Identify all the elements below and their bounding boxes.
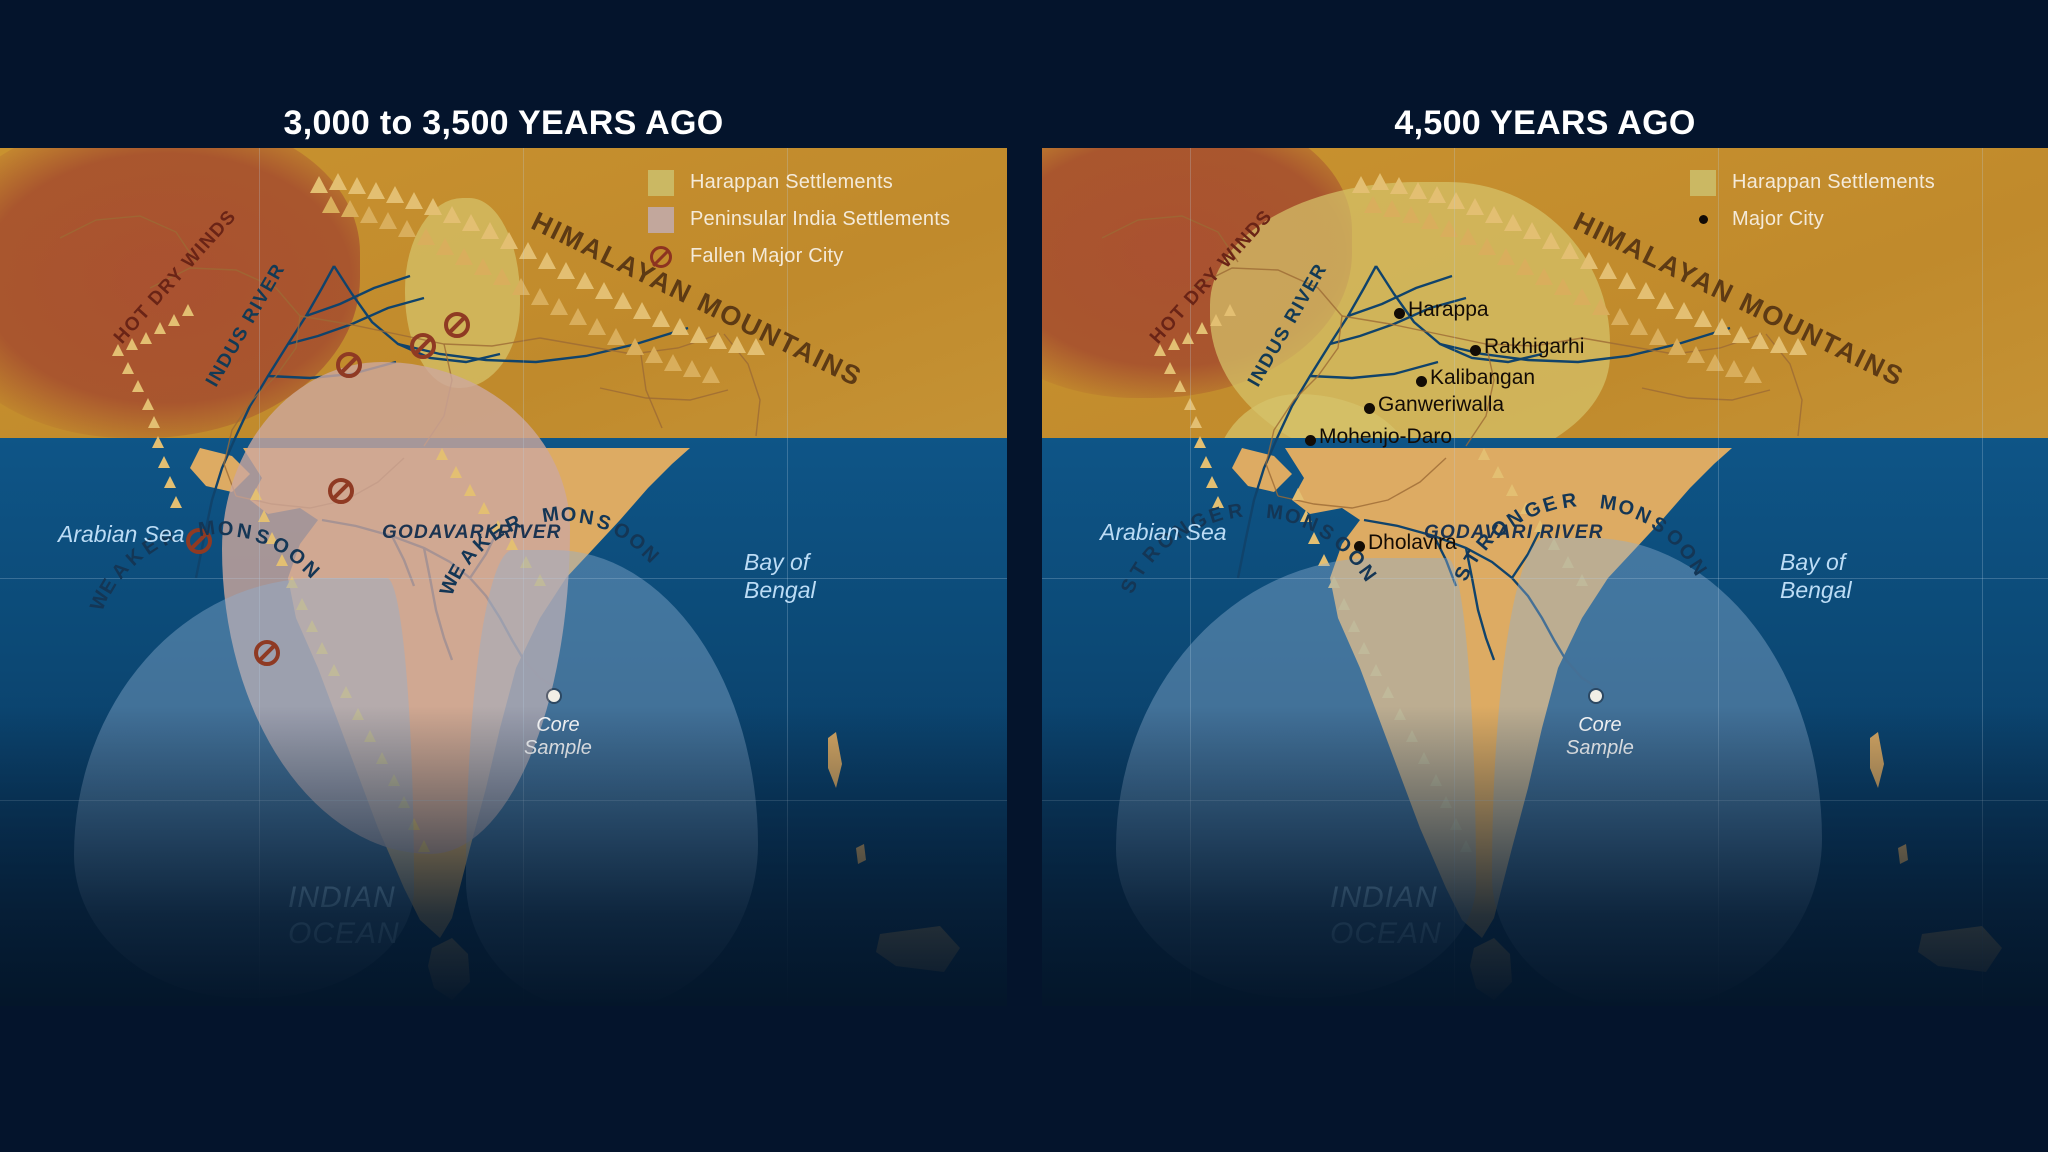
- fallen-city-marker[interactable]: [336, 352, 362, 378]
- legend-item[interactable]: Major City: [1690, 201, 1935, 238]
- legend-right: Harappan Settlements Major City: [1690, 164, 1935, 238]
- legend-item[interactable]: Peninsular India Settlements: [648, 201, 950, 238]
- eastern-ghats-ridge-left: [436, 448, 437, 449]
- hindukush-ridge-right: [1154, 344, 1155, 345]
- gridline-h1-left: [0, 578, 1007, 579]
- western-ghats-ridge-left: [250, 488, 251, 489]
- fallen-city-marker[interactable]: [328, 478, 354, 504]
- fallen-city-marker[interactable]: [410, 333, 436, 359]
- city-label-mohenjo-daro: Mohenjo-Daro: [1319, 425, 1452, 449]
- city-dot-harappa[interactable]: [1394, 308, 1405, 319]
- ocean-depth-fade-right: [1042, 706, 2048, 1006]
- panel-title-right: 4,500 YEARS AGO: [1042, 100, 2048, 146]
- bay-of-bengal-label-right: Bay of Bengal: [1780, 548, 1852, 604]
- core-sample-dot-right[interactable]: [1590, 690, 1602, 702]
- city-label-kalibangan: Kalibangan: [1430, 366, 1535, 390]
- fallen-city-marker[interactable]: [254, 640, 280, 666]
- western-ghats-ridge-right: [1292, 488, 1293, 489]
- himalaya-ridge-lower-left: [322, 196, 323, 197]
- city-label-rakhigarhi: Rakhigarhi: [1484, 335, 1584, 359]
- legend-label: Fallen Major City: [690, 245, 843, 268]
- himalaya-ridge-lower-right: [1364, 196, 1365, 197]
- arabian-sea-label-left: Arabian Sea: [58, 520, 185, 548]
- map-panel-right: HarappaRakhigarhiKalibanganGanweriwallaM…: [1042, 148, 2048, 1006]
- himalaya-ridge-right: [1352, 176, 1353, 177]
- harappan-settlements-swatch: [1690, 170, 1716, 196]
- legend-item[interactable]: Fallen Major City: [648, 238, 950, 275]
- city-dot-rakhigarhi[interactable]: [1470, 345, 1481, 356]
- infographic-stage: 3,000 to 3,500 YEARS AGO 4,500 YEARS AGO: [0, 0, 2048, 1152]
- hindukush-ridge-left: [112, 344, 113, 345]
- bay-of-bengal-label-left: Bay of Bengal: [744, 548, 816, 604]
- gridline-h1-right: [1042, 578, 2048, 579]
- legend-label: Peninsular India Settlements: [690, 208, 950, 231]
- legend-item[interactable]: Harappan Settlements: [648, 164, 950, 201]
- legend-item[interactable]: Harappan Settlements: [1690, 164, 1935, 201]
- peninsular-settlements-swatch: [648, 207, 674, 233]
- legend-left: Harappan Settlements Peninsular India Se…: [648, 164, 950, 275]
- city-dot-mohenjo-daro[interactable]: [1305, 435, 1316, 446]
- eastern-ghats-ridge-right: [1478, 448, 1479, 449]
- harappan-settlements-swatch: [648, 170, 674, 196]
- city-dot-kalibangan[interactable]: [1416, 376, 1427, 387]
- legend-label: Major City: [1732, 208, 1824, 231]
- panel-title-left: 3,000 to 3,500 YEARS AGO: [0, 100, 1007, 146]
- major-city-dot-icon: [1690, 215, 1716, 224]
- legend-label: Harappan Settlements: [1732, 171, 1935, 194]
- legend-label: Harappan Settlements: [690, 171, 893, 194]
- city-label-ganweriwalla: Ganweriwalla: [1378, 393, 1504, 417]
- fallen-city-icon: [648, 246, 674, 268]
- ocean-depth-fade-left: [0, 706, 1007, 1006]
- fallen-city-marker[interactable]: [444, 312, 470, 338]
- map-panel-left: HOT DRY WINDS HIMALAYAN MOUNTAINS INDUS …: [0, 148, 1007, 1006]
- core-sample-dot-left[interactable]: [548, 690, 560, 702]
- city-dot-ganweriwalla[interactable]: [1364, 403, 1375, 414]
- arabian-sea-label-right: Arabian Sea: [1100, 518, 1227, 546]
- himalaya-ridge-left: [310, 176, 311, 177]
- city-label-harappa: Harappa: [1408, 298, 1489, 322]
